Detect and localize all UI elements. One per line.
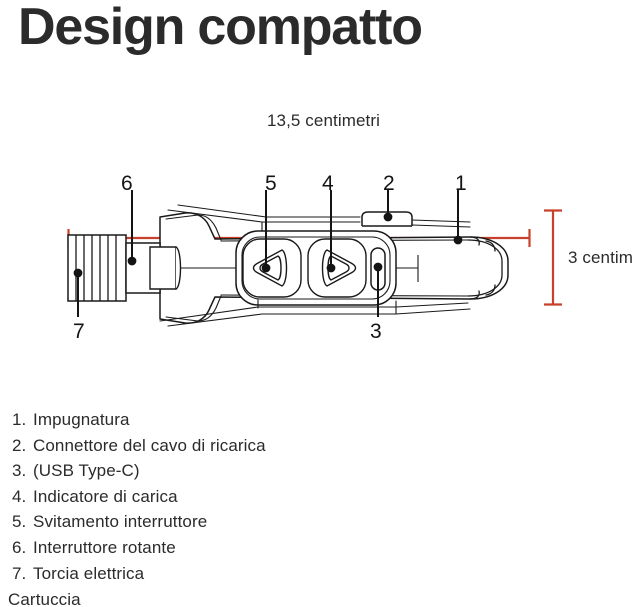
legend-item: 1.Impugnatura (12, 407, 632, 433)
legend-item: 4.Indicatore di carica (12, 484, 632, 510)
legend-item-number: 6. (12, 535, 33, 561)
callout-number-4: 4 (322, 172, 334, 196)
left-arrow-button[interactable] (243, 239, 301, 297)
legend-item-label: Interruttore rotante (33, 538, 176, 557)
legend-footer: Cartuccia (8, 587, 81, 607)
legend-list: 1.Impugnatura2.Connettore del cavo di ri… (12, 407, 632, 586)
callout-number-5: 5 (265, 172, 277, 196)
legend-item: 3.(USB Type-C) (12, 458, 632, 484)
legend-item-label: Svitamento interruttore (33, 512, 207, 531)
device-upper-taper (168, 205, 470, 231)
legend-item-number: 7. (12, 561, 33, 587)
legend-item-label: (USB Type-C) (33, 461, 140, 480)
device-illustration-svg (0, 95, 640, 395)
height-dimension-label: 3 centim (568, 248, 633, 268)
legend-item-number: 1. (12, 407, 33, 433)
legend-item: 2.Connettore del cavo di ricarica (12, 433, 632, 459)
page-title: Design compatto (18, 0, 422, 58)
legend-item-label: Impugnatura (33, 410, 130, 429)
callout-number-1: 1 (455, 172, 467, 196)
right-arrow-button[interactable] (308, 239, 366, 297)
legend-item: 7.Torcia elettrica (12, 561, 632, 587)
callout-number-6: 6 (121, 172, 133, 196)
callout-number-3: 3 (370, 320, 382, 344)
legend-item-number: 4. (12, 484, 33, 510)
legend-item-label: Torcia elettrica (33, 564, 144, 583)
legend-item-number: 3. (12, 458, 33, 484)
width-dimension-label: 13,5 centimetri (267, 111, 380, 131)
knurled-flashlight-cap (68, 235, 126, 301)
legend-item: 6.Interruttore rotante (12, 535, 632, 561)
legend-item-label: Connettore del cavo di ricarica (33, 436, 266, 455)
legend-item-label: Indicatore di carica (33, 487, 178, 506)
legend-item: 5.Svitamento interruttore (12, 509, 632, 535)
rotating-switch-cylinder (150, 247, 181, 289)
legend-item-number: 5. (12, 509, 33, 535)
height-dimension-line (544, 210, 562, 305)
callout-number-2: 2 (383, 172, 395, 196)
legend-item-number: 2. (12, 433, 33, 459)
callout-number-7: 7 (73, 320, 85, 344)
product-diagram (0, 95, 640, 395)
